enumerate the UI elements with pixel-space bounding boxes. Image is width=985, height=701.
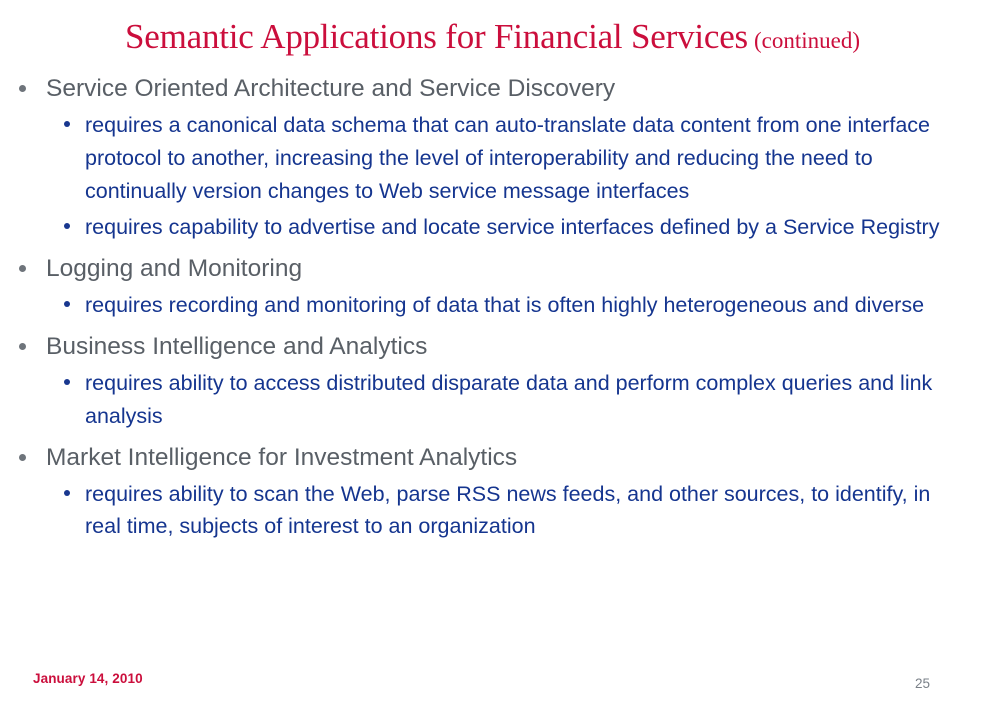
slide-page-number: 25 xyxy=(915,676,955,692)
bullet-dot-icon xyxy=(64,223,70,229)
bullet-dot-icon xyxy=(19,343,26,350)
slide-body-bullet-list: Service Oriented Architecture and Servic… xyxy=(0,72,985,543)
bullet-level1: Market Intelligence for Investment Analy… xyxy=(0,441,985,474)
slide-title-continued: (continued) xyxy=(748,28,860,53)
bullet-dot-icon xyxy=(19,265,26,272)
bullet-text: requires recording and monitoring of dat… xyxy=(85,293,924,317)
bullet-dot-icon xyxy=(19,454,26,461)
bullet-dot-icon xyxy=(64,379,70,385)
footer-date: January 14, 2010 xyxy=(33,671,143,687)
bullet-text: requires ability to scan the Web, parse … xyxy=(85,482,930,539)
bullet-text: requires capability to advertise and loc… xyxy=(85,215,939,239)
bullet-level2: requires capability to advertise and loc… xyxy=(0,211,985,244)
bullet-dot-icon xyxy=(64,301,70,307)
bullet-text: Service Oriented Architecture and Servic… xyxy=(46,75,615,102)
slide-title: Semantic Applications for Financial Serv… xyxy=(0,17,985,61)
bullet-text: Business Intelligence and Analytics xyxy=(46,333,427,360)
bullet-level2: requires a canonical data schema that ca… xyxy=(0,109,985,207)
bullet-level1: Business Intelligence and Analytics xyxy=(0,330,985,363)
bullet-level2: requires recording and monitoring of dat… xyxy=(0,289,985,322)
bullet-text: Market Intelligence for Investment Analy… xyxy=(46,444,517,471)
slide-title-main: Semantic Applications for Financial Serv… xyxy=(125,17,748,56)
bullet-dot-icon xyxy=(64,121,70,127)
presentation-slide: Semantic Applications for Financial Serv… xyxy=(0,0,985,701)
bullet-level2: requires ability to scan the Web, parse … xyxy=(0,478,985,544)
bullet-dot-icon xyxy=(19,85,26,92)
bullet-dot-icon xyxy=(64,490,70,496)
bullet-text: Logging and Monitoring xyxy=(46,255,302,282)
bullet-level1: Service Oriented Architecture and Servic… xyxy=(0,72,985,105)
bullet-level1: Logging and Monitoring xyxy=(0,252,985,285)
bullet-text: requires a canonical data schema that ca… xyxy=(85,113,930,203)
bullet-level2: requires ability to access distributed d… xyxy=(0,367,985,433)
bullet-text: requires ability to access distributed d… xyxy=(85,371,932,428)
